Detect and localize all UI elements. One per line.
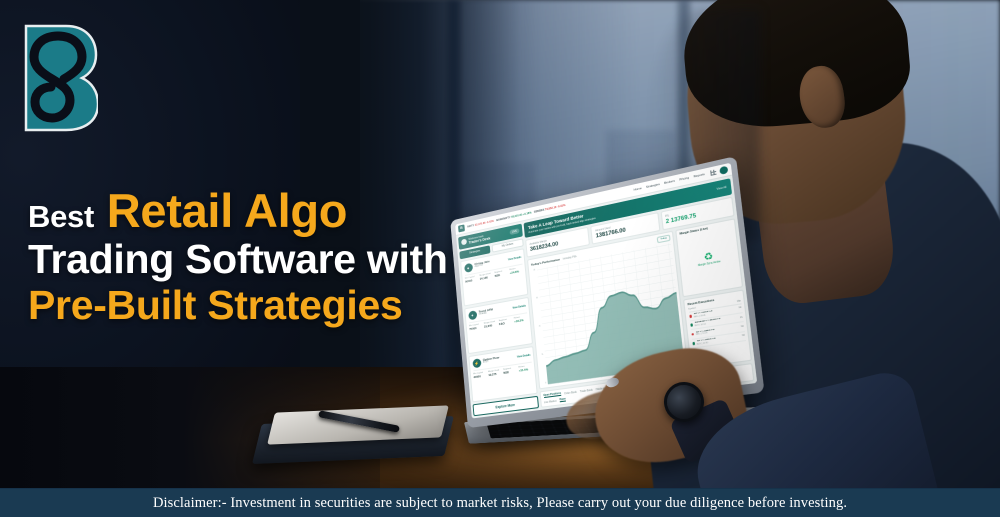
view-details-link[interactable]: View Details xyxy=(508,255,522,261)
chart-subtitle: Intraday P&L xyxy=(563,255,577,261)
headline-line-2: Trading Software with xyxy=(28,238,498,281)
col-symbol: Symbol xyxy=(688,307,696,311)
recycle-icon: ♻ xyxy=(703,251,713,262)
ticker-name: BANKNIFTY xyxy=(496,216,510,222)
metric-value: +24.8% xyxy=(510,269,523,275)
direction-dot xyxy=(691,333,694,336)
headline-line-3: Pre-Built Strategies xyxy=(28,284,498,327)
headline-trading-software: Trading Software with xyxy=(28,236,448,282)
y-tick: 2L xyxy=(537,326,541,329)
nav-item-strategies[interactable]: Strategies xyxy=(646,183,660,190)
bolt-icon: ⚡ xyxy=(472,358,481,368)
tab-trade-book[interactable]: Trade Book xyxy=(580,388,593,393)
metric-value: +31.5% xyxy=(519,367,532,372)
metric: Return+31.5% xyxy=(518,365,532,373)
y-tick: 3L xyxy=(534,297,538,300)
col-qty: Qty xyxy=(737,300,741,303)
metric-value: 40000 xyxy=(473,374,486,379)
logo-b-mark xyxy=(22,22,98,134)
avatar[interactable] xyxy=(719,166,728,175)
ticker-change: +0.18% xyxy=(523,211,532,216)
headline-best: Best xyxy=(28,199,94,234)
headline: Best Retail Algo Trading Software with P… xyxy=(28,186,498,328)
right-column: Margin Status (Live) ♻ Margin Sync Activ… xyxy=(675,218,752,369)
metric: Return+18.2% xyxy=(514,315,528,323)
metric: Return+24.8% xyxy=(509,267,522,276)
y-tick: 4L xyxy=(531,269,535,272)
strategy-card[interactable]: ⚡ Option Flow BTST View Details Min Capi… xyxy=(468,346,537,402)
view-details-link[interactable]: View Details xyxy=(512,304,526,309)
direction-dot xyxy=(690,324,693,327)
headline-pre-built: Pre-Built Strategies xyxy=(28,282,403,328)
ticker-change: -0.31% xyxy=(557,204,566,209)
market-status-label: Live Market xyxy=(544,399,557,404)
live-badge: LIVE xyxy=(509,228,519,235)
tab-order-book[interactable]: Order Book xyxy=(564,390,577,395)
nav-item-brokers[interactable]: Brokers xyxy=(664,179,675,185)
y-tick: 1L xyxy=(540,354,544,357)
hero-link[interactable]: View All xyxy=(717,186,727,191)
headline-line-1: Best Retail Algo xyxy=(28,186,498,236)
ticker-value: 73,852.10 xyxy=(545,206,557,212)
y-tick: 0 xyxy=(542,382,546,385)
ticker-value: 48,210.30 xyxy=(511,213,522,218)
view-details-link[interactable]: View Details xyxy=(517,353,531,358)
metric: SegmentNSE xyxy=(503,367,516,375)
order-qty: 15 xyxy=(740,316,743,319)
promo-banner: B NIFTY 22,475.85 -0.42% BANKNIFTY 48,21… xyxy=(0,0,1000,517)
brand-logo[interactable] xyxy=(22,22,98,134)
headline-retail-algo: Retail Algo xyxy=(107,184,347,237)
margin-status-card: Margin Status (Live) ♻ Margin Sync Activ… xyxy=(675,218,743,298)
disclaimer-bar: Disclaimer:- Investment in securities ar… xyxy=(0,488,1000,517)
metric-value: 19,275 xyxy=(488,372,501,377)
order-qty: 50 xyxy=(739,307,742,310)
metric: Min Capital40000 xyxy=(473,371,486,379)
ticker-name: SENSEX xyxy=(534,208,545,213)
order-qty: 50 xyxy=(741,325,744,328)
nav-item-reports[interactable]: Reports xyxy=(693,173,705,179)
metric: Margin Used19,275 xyxy=(488,369,501,377)
market-status-value: Open xyxy=(559,397,566,402)
disclaimer-text: Disclaimer:- Investment in securities ar… xyxy=(153,495,847,512)
orders-list: Symbol Qty NIFTY 22500 CESELL | 09:41 50 xyxy=(688,300,745,349)
metric: SegmentF&O xyxy=(499,318,512,326)
nav-item-pricing[interactable]: Pricing xyxy=(679,176,689,182)
direction-dot xyxy=(689,315,692,318)
direction-dot xyxy=(692,342,695,345)
chart-range-button[interactable]: Today xyxy=(657,235,670,244)
order-qty: 50 xyxy=(742,335,745,338)
grid-icon[interactable] xyxy=(710,169,716,176)
recycle-label: Margin Sync Active xyxy=(698,261,721,268)
nav-item-home[interactable]: Home xyxy=(633,187,641,192)
metric-value: +18.2% xyxy=(514,318,527,324)
